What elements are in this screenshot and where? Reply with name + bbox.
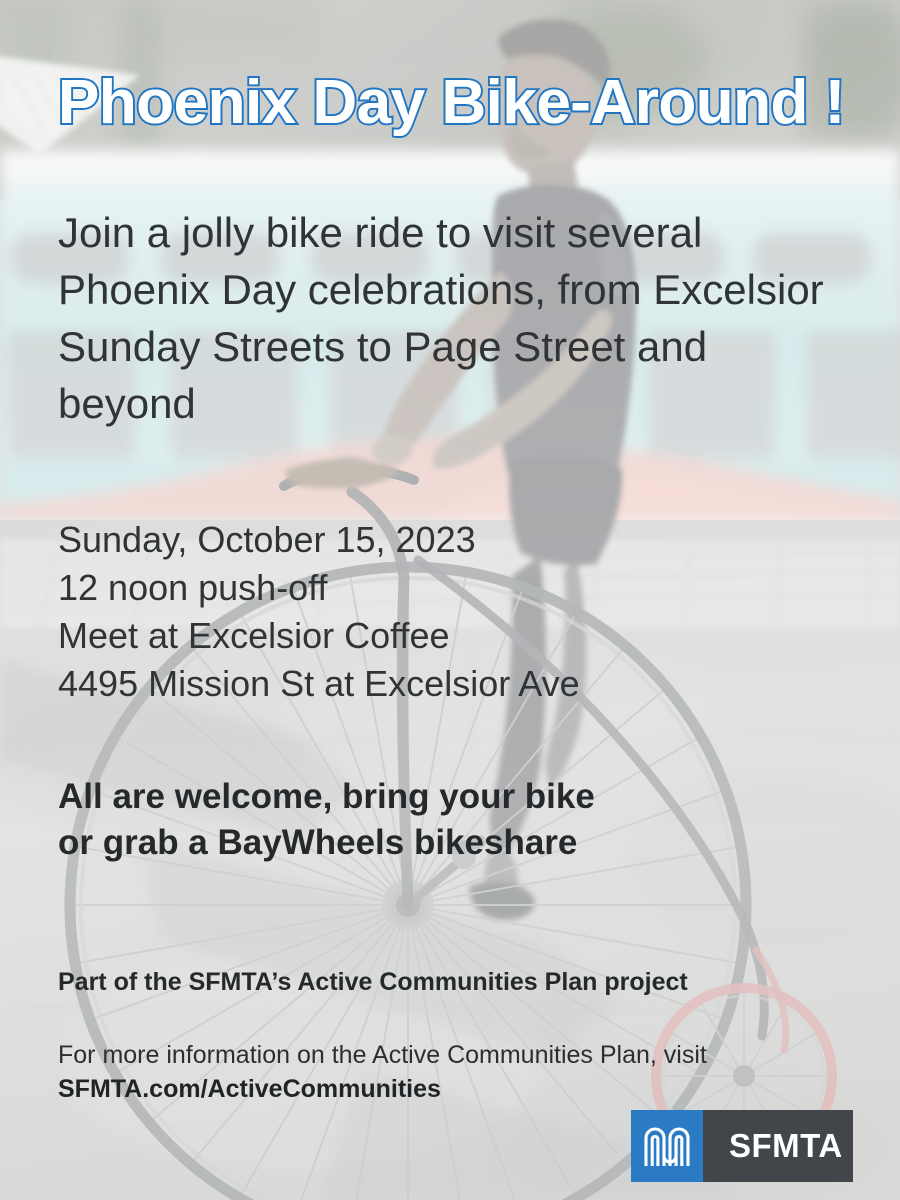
project-attribution: Part of the SFMTA’s Active Communities P…: [58, 966, 848, 998]
sfmta-wordmark: SFMTA: [703, 1110, 853, 1182]
flyer-content: Phoenix Day Bike-Around ! Phoenix Day Bi…: [0, 0, 900, 1200]
welcome-line-2: or grab a BayWheels bikeshare: [58, 820, 758, 866]
website-url[interactable]: SFMTA.com/ActiveCommunities: [58, 1072, 858, 1106]
page-title-fill: Phoenix Day Bike-Around !: [58, 72, 878, 134]
event-details: Sunday, October 15, 2023 12 noon push-of…: [58, 516, 758, 708]
intro-paragraph: Join a jolly bike ride to visit several …: [58, 204, 848, 432]
welcome-note: All are welcome, bring your bike or grab…: [58, 774, 758, 866]
welcome-line-1: All are welcome, bring your bike: [58, 774, 758, 820]
muni-m-icon: [631, 1110, 703, 1182]
more-information: For more information on the Active Commu…: [58, 1038, 858, 1106]
more-info-text: For more information on the Active Commu…: [58, 1041, 707, 1069]
event-meeting-place: Meet at Excelsior Coffee: [58, 612, 758, 660]
event-flyer: Phoenix Day Bike-Around ! Phoenix Day Bi…: [0, 0, 900, 1200]
event-date: Sunday, October 15, 2023: [58, 516, 758, 564]
event-address: 4495 Mission St at Excelsior Ave: [58, 660, 758, 708]
sfmta-logo: SFMTA: [631, 1110, 853, 1182]
event-time: 12 noon push-off: [58, 564, 758, 612]
